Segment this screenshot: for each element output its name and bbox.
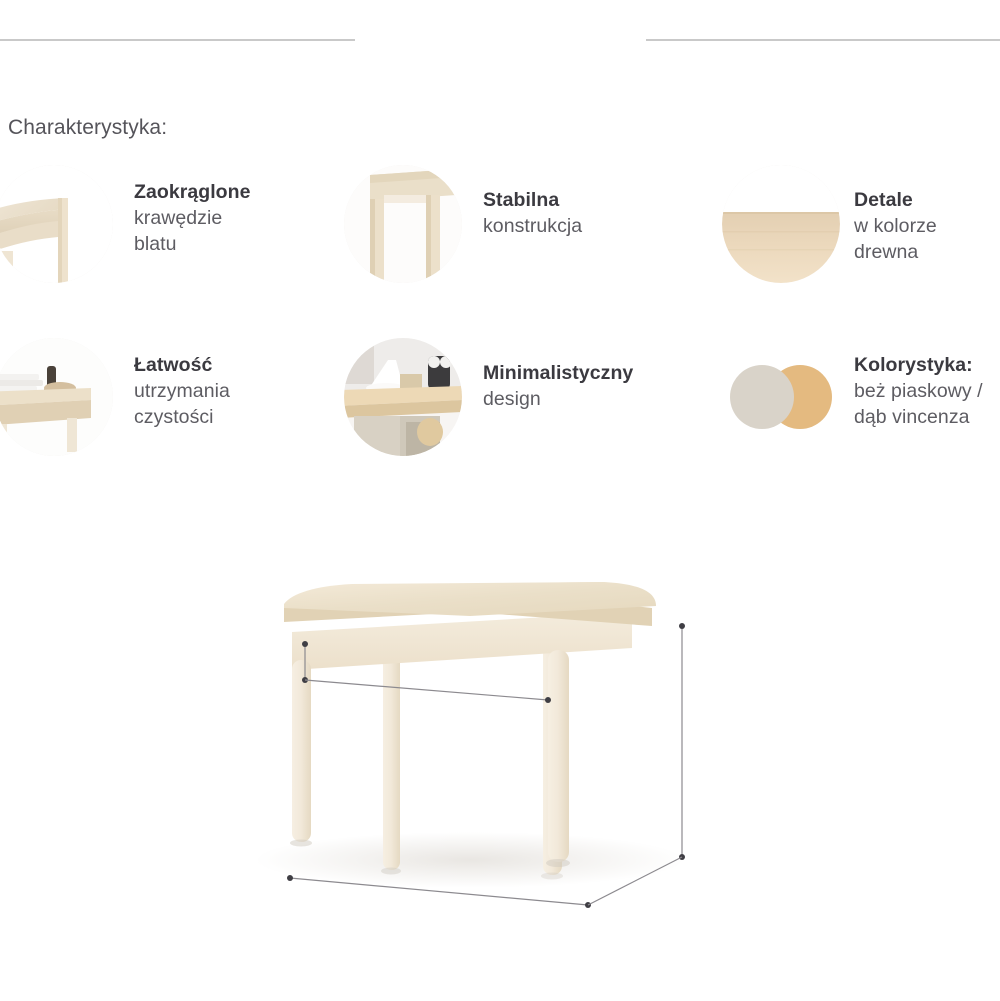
feature-line: design (483, 386, 633, 412)
feature-line: w kolorze (854, 213, 937, 239)
feature-line: blatu (134, 231, 251, 257)
feature-text: Minimalistyczny design (483, 338, 633, 412)
feature-line: czystości (134, 404, 230, 430)
feature-item-stabilna-konstrukcja: Stabilna konstrukcja (344, 165, 582, 283)
wood-grain-surface-icon (722, 165, 840, 283)
feature-title: Zaokrąglone (134, 179, 251, 205)
feature-title: Stabilna (483, 187, 582, 213)
feature-item-kolorystyka: Kolorystyka: beż piaskowy / dąb vincenza (722, 338, 983, 456)
feature-line: beż piaskowy / (854, 378, 983, 404)
feature-text: Stabilna konstrukcja (483, 165, 582, 239)
colour-swatches-icon (722, 338, 840, 456)
top-divider-right (646, 39, 1000, 41)
feature-item-detale-w-kolorze-drewna: Detale w kolorze drewna (722, 165, 937, 283)
feature-line: utrzymania (134, 378, 230, 404)
feature-text: Zaokrąglone krawędzie blatu (134, 165, 251, 257)
feature-item-zaokraglone-krawedzie: Zaokrąglone krawędzie blatu (0, 165, 251, 283)
top-divider-left (0, 39, 355, 41)
table-with-books-icon (0, 338, 113, 456)
feature-line: drewna (854, 239, 937, 265)
feature-line: dąb vincenza (854, 404, 983, 430)
feature-text: Detale w kolorze drewna (854, 165, 937, 265)
feature-title: Kolorystyka: (854, 352, 983, 378)
page-title: Charakterystyka: (8, 116, 167, 140)
feature-item-latwosc-utrzymania-czystosci: Łatwość utrzymania czystości (0, 338, 230, 456)
feature-text: Kolorystyka: beż piaskowy / dąb vincenza (854, 338, 983, 430)
feature-line: krawędzie (134, 205, 251, 231)
swatch-sand-beige (730, 365, 794, 429)
dimension-diagram: 10 cm 70 cm 57 cm 80 cm 60 cm (0, 560, 1000, 960)
feature-title: Detale (854, 187, 937, 213)
product-infographic: Charakterystyka: (0, 0, 1000, 1001)
table-rounded-corner-icon (0, 165, 113, 283)
feature-item-minimalistyczny-design: Minimalistyczny design (344, 338, 633, 456)
interior-scene-icon (344, 338, 462, 456)
table-frame-legs-icon (344, 165, 462, 283)
feature-text: Łatwość utrzymania czystości (134, 338, 230, 430)
feature-title: Łatwość (134, 352, 230, 378)
feature-line: konstrukcja (483, 213, 582, 239)
feature-title: Minimalistyczny (483, 360, 633, 386)
